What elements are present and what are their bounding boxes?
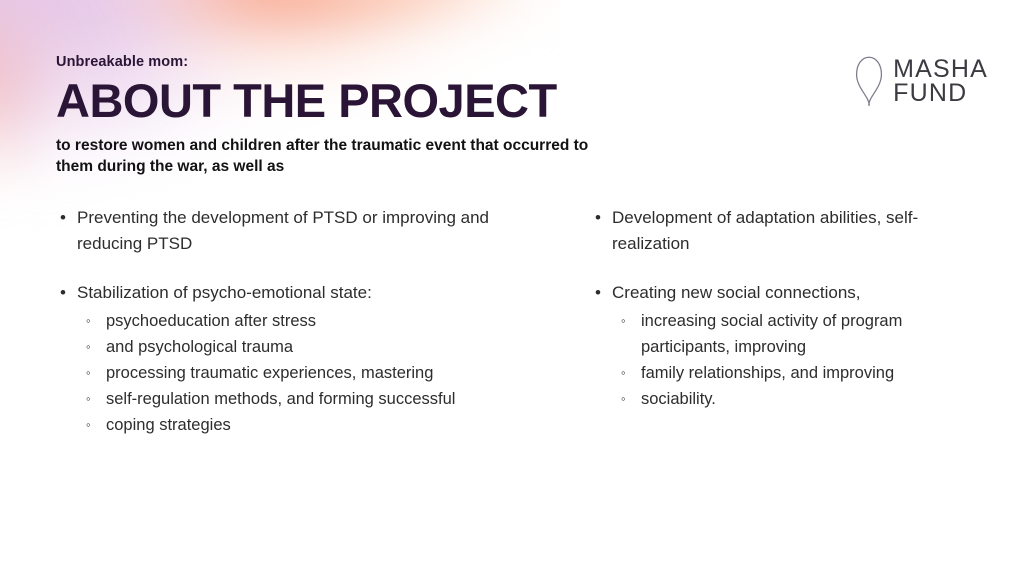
slide-description: to restore women and children after the …: [56, 136, 601, 177]
bullet-circle-icon: ◦: [86, 412, 106, 437]
bullet-disc-icon: •: [56, 280, 77, 306]
logo-line-1: MASHA: [893, 57, 988, 82]
eyebrow-label: Unbreakable mom:: [56, 54, 676, 71]
sub-list-item-label: and psychological trauma: [106, 334, 293, 360]
bullet-circle-icon: ◦: [86, 386, 106, 411]
sub-list-item-label: self-regulation methods, and forming suc…: [106, 386, 455, 412]
list-item: •Preventing the development of PTSD or i…: [56, 205, 556, 258]
slide-canvas: Unbreakable mom: ABOUT THE PROJECT to re…: [0, 0, 1024, 576]
sub-list-item: ◦sociability.: [621, 386, 956, 412]
bullet-group: •Preventing the development of PTSD or i…: [56, 205, 556, 258]
bullet-circle-icon: ◦: [86, 360, 106, 385]
sub-list-item: ◦family relationships, and improving: [621, 360, 956, 386]
sub-list-item: ◦processing traumatic experiences, maste…: [86, 360, 556, 386]
sub-list-item: ◦self-regulation methods, and forming su…: [86, 386, 556, 412]
ribbon-icon: [854, 55, 884, 107]
sub-list-item: ◦and psychological trauma: [86, 334, 556, 360]
slide-header: Unbreakable mom: ABOUT THE PROJECT to re…: [56, 54, 676, 177]
gradient-blob-peach: [235, 0, 560, 60]
logo-line-2: FUND: [893, 81, 988, 106]
content-columns: •Preventing the development of PTSD or i…: [56, 205, 986, 438]
sub-list-item: ◦coping strategies: [86, 412, 556, 438]
sub-list-item-label: family relationships, and improving: [641, 360, 894, 386]
bullet-disc-icon: •: [591, 280, 612, 306]
bullet-disc-icon: •: [56, 205, 77, 231]
sub-list-item-label: processing traumatic experiences, master…: [106, 360, 433, 386]
sub-bullet-list: ◦increasing social activity of program p…: [591, 308, 956, 412]
bullet-disc-icon: •: [591, 205, 612, 231]
bullet-group: •Development of adaptation abilities, se…: [591, 205, 956, 258]
sub-list-item-label: sociability.: [641, 386, 716, 412]
sub-list-item-label: coping strategies: [106, 412, 231, 438]
list-item-label: Preventing the development of PTSD or im…: [77, 205, 556, 258]
bullet-circle-icon: ◦: [86, 334, 106, 359]
sub-list-item-label: increasing social activity of program pa…: [641, 308, 956, 360]
bullet-circle-icon: ◦: [621, 360, 641, 385]
sub-list-item: ◦psychoeducation after stress: [86, 308, 556, 334]
list-item: •Stabilization of psycho-emotional state…: [56, 280, 556, 306]
bullet-group: •Creating new social connections,◦increa…: [591, 280, 956, 413]
column-right: •Development of adaptation abilities, se…: [556, 205, 956, 438]
logo-wordmark: MASHA FUND: [893, 57, 988, 106]
bullet-circle-icon: ◦: [621, 308, 641, 333]
list-item-label: Creating new social connections,: [612, 280, 861, 306]
sub-bullet-list: ◦psychoeducation after stress◦and psycho…: [56, 308, 556, 438]
bullet-group: •Stabilization of psycho-emotional state…: [56, 280, 556, 439]
sub-list-item-label: psychoeducation after stress: [106, 308, 316, 334]
list-item-label: Stabilization of psycho-emotional state:: [77, 280, 372, 306]
page-title: ABOUT THE PROJECT: [56, 76, 676, 126]
logo: MASHA FUND: [854, 55, 988, 107]
column-left: •Preventing the development of PTSD or i…: [56, 205, 556, 438]
bullet-circle-icon: ◦: [86, 308, 106, 333]
list-item: •Creating new social connections,: [591, 280, 956, 306]
bullet-circle-icon: ◦: [621, 386, 641, 411]
sub-list-item: ◦increasing social activity of program p…: [621, 308, 956, 360]
list-item-label: Development of adaptation abilities, sel…: [612, 205, 956, 258]
list-item: •Development of adaptation abilities, se…: [591, 205, 956, 258]
